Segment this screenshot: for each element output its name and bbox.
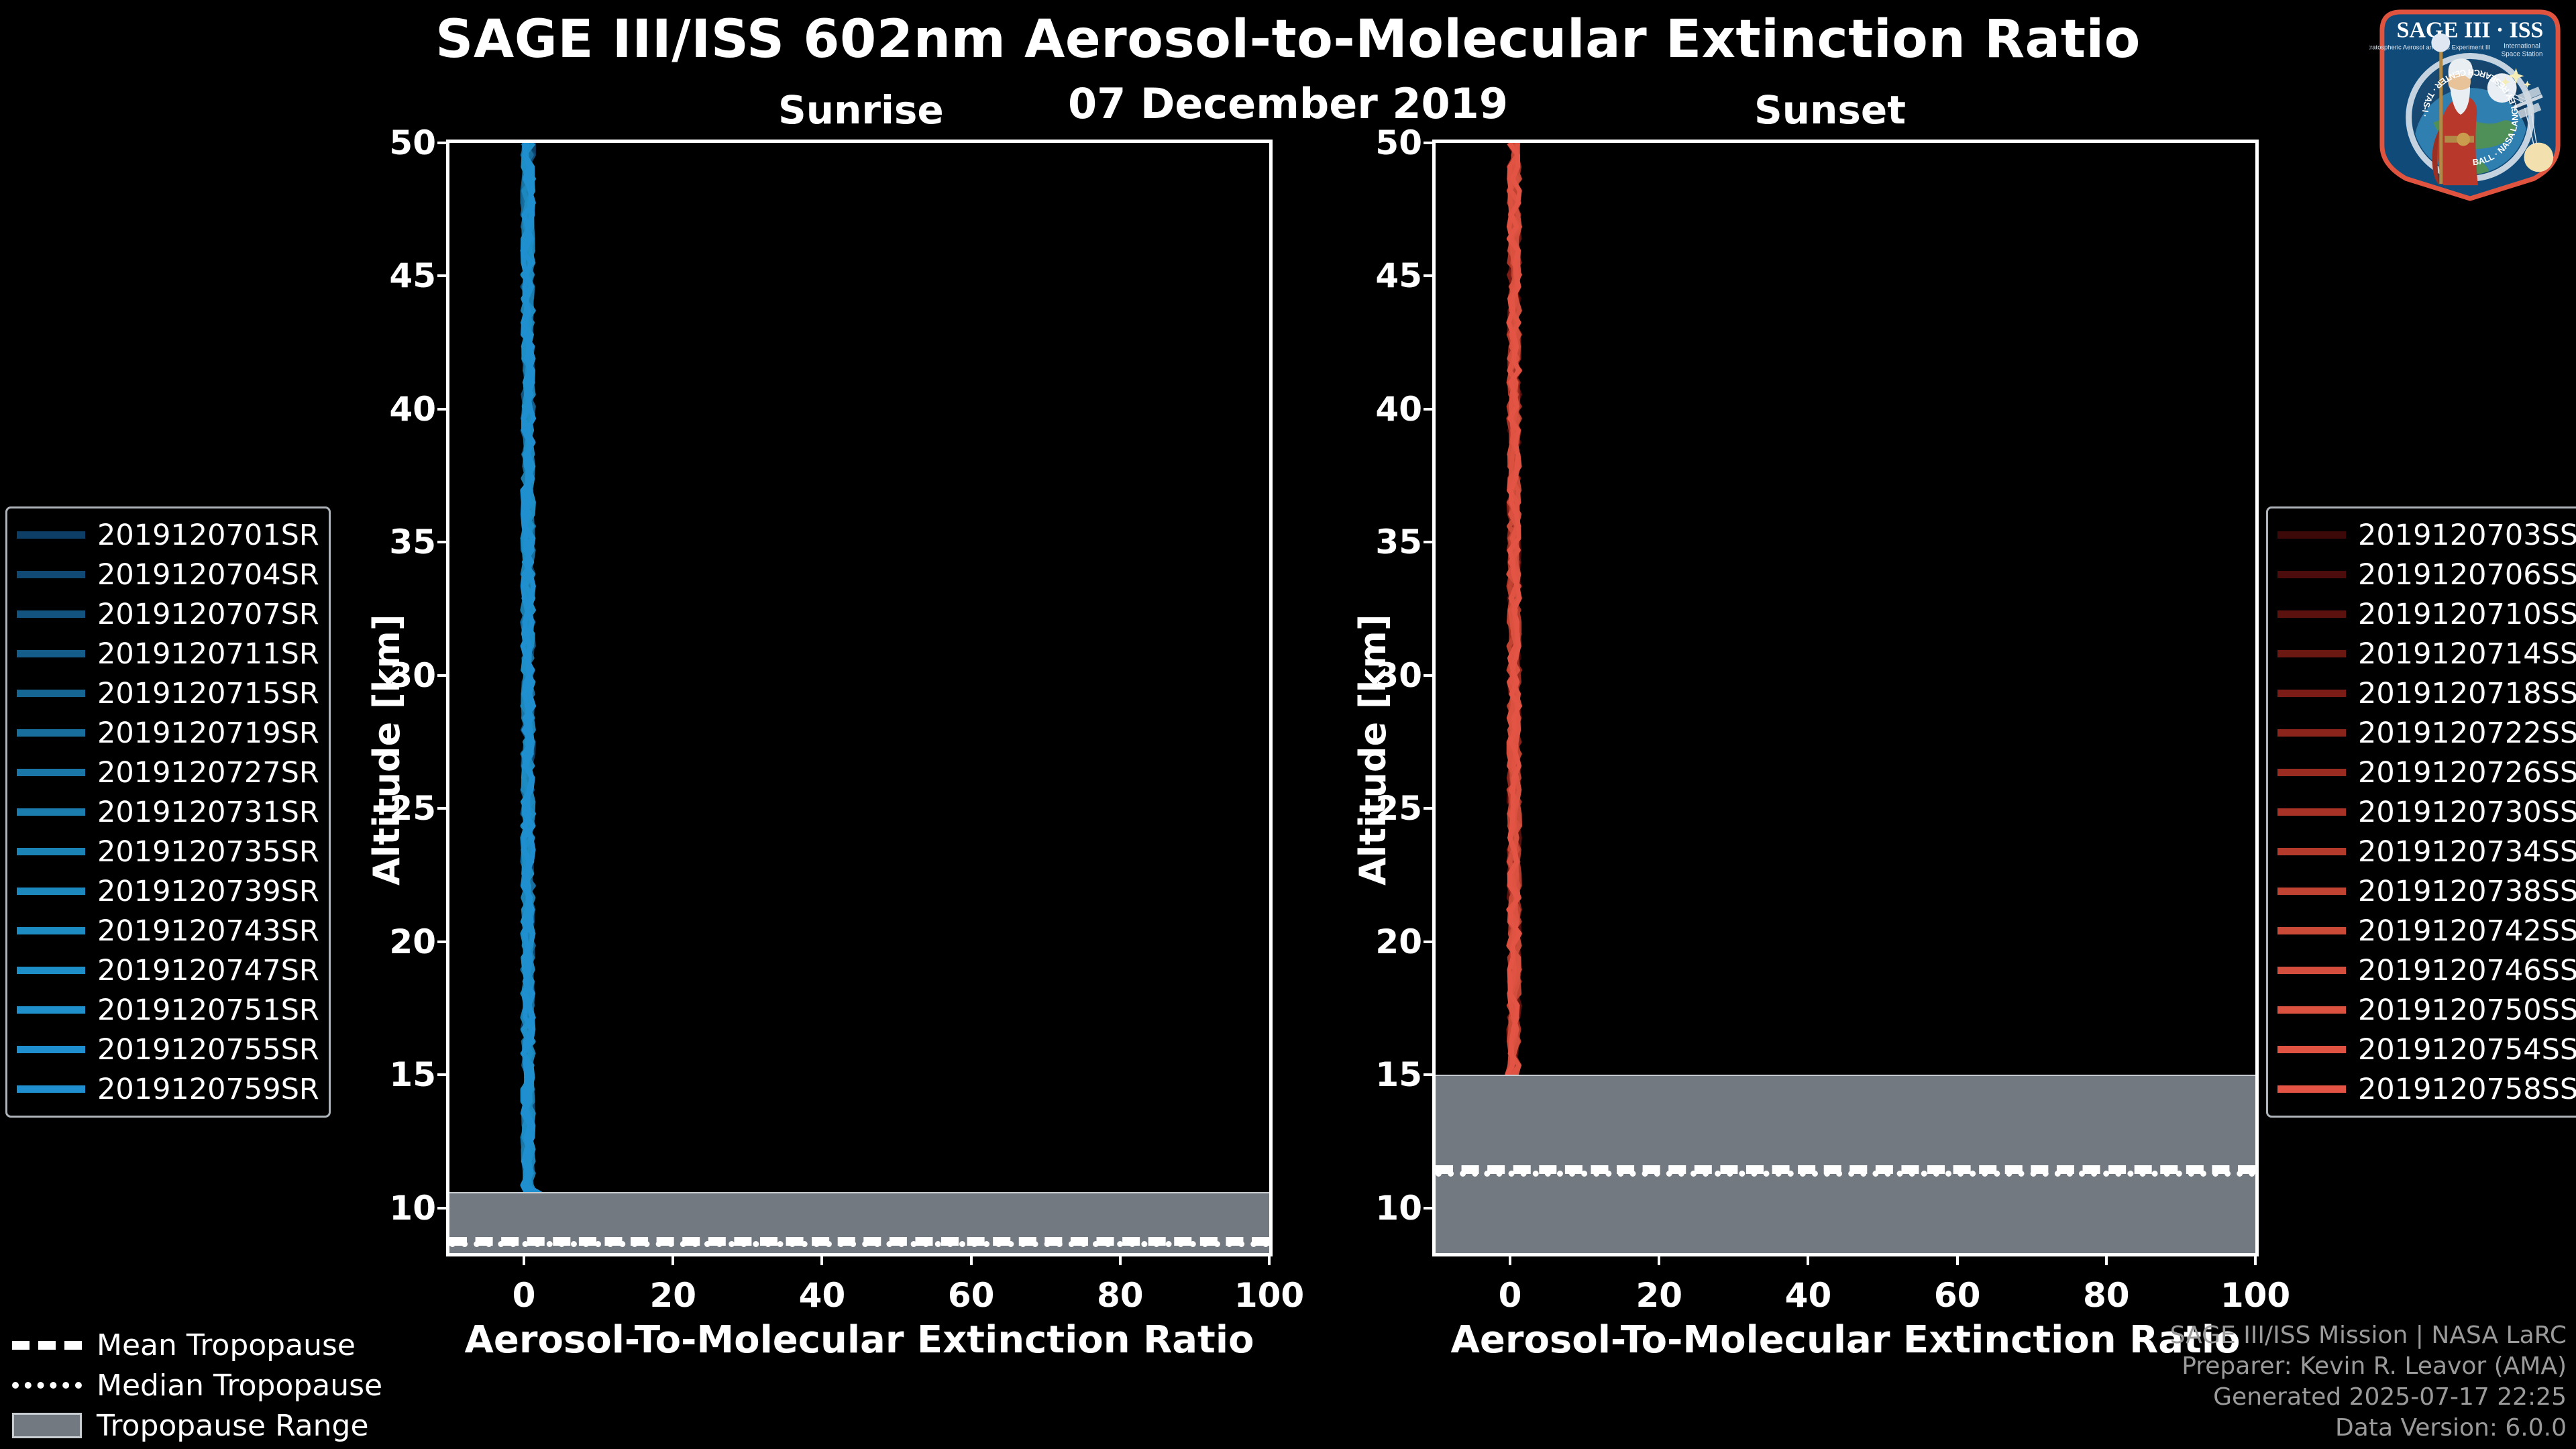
legend-label: 2019120746SS <box>2358 954 2576 987</box>
patch-subtitle-left: Stratospheric Aerosol and Gas Experiment… <box>2369 44 2491 51</box>
legend-color-swatch <box>2277 848 2346 855</box>
y-tick-label: 10 <box>1375 1189 1422 1228</box>
y-tick-label: 35 <box>389 523 436 561</box>
plot-area-sunset <box>1436 143 2255 1253</box>
y-tick-label: 20 <box>389 922 436 961</box>
legend-label: 2019120738SS <box>2358 875 2576 908</box>
legend-color-swatch <box>2277 1085 2346 1093</box>
patch-title-text: SAGE III · ISS <box>2397 18 2544 43</box>
legend-label: 2019120726SS <box>2358 756 2576 790</box>
filled-band-icon <box>12 1413 82 1438</box>
legend-color-swatch <box>2277 769 2346 776</box>
x-tick-label: 60 <box>1934 1276 1981 1315</box>
y-tick-mark <box>437 1207 449 1210</box>
x-tick-label: 40 <box>1785 1276 1832 1315</box>
y-tick-mark <box>437 807 449 810</box>
y-tick-mark <box>437 1073 449 1076</box>
x-tick-mark <box>820 1253 823 1265</box>
x-tick-mark <box>1268 1253 1271 1265</box>
credit-line-version: Data Version: 6.0.0 <box>2170 1413 2567 1444</box>
legend-label: 2019120707SR <box>97 598 319 631</box>
legend-color-swatch <box>17 531 85 539</box>
x-axis-label-sunrise: Aerosol-To-Molecular Extinction Ratio <box>446 1318 1273 1362</box>
y-tick-label: 15 <box>1375 1055 1422 1094</box>
y-tick-mark <box>437 408 449 411</box>
legend-item[interactable]: 2019120703SS <box>2277 515 2576 555</box>
sunset-panel-title: Sunset <box>1754 87 1906 133</box>
legend-color-swatch <box>2277 927 2346 934</box>
legend-item[interactable]: 2019120755SR <box>17 1030 319 1069</box>
legend-color-swatch <box>2277 967 2346 974</box>
x-axis-label-sunset: Aerosol-To-Molecular Extinction Ratio <box>1432 1318 2259 1362</box>
y-tick-mark <box>437 941 449 943</box>
legend-label: 2019120711SR <box>97 637 319 671</box>
y-tick-label: 45 <box>1375 256 1422 295</box>
y-tick-mark <box>1424 142 1436 144</box>
x-tick-mark <box>2105 1253 2108 1265</box>
legend-item-median-tropopause: Median Tropopause <box>12 1365 382 1405</box>
y-tick-label: 45 <box>389 256 436 295</box>
legend-item[interactable]: 2019120746SS <box>2277 951 2576 990</box>
legend-label: 2019120739SR <box>97 875 319 908</box>
page-title: SAGE III/ISS 602nm Aerosol-to-Molecular … <box>0 9 2576 70</box>
dotted-line-icon <box>12 1382 82 1389</box>
patch-subtitle-right-1: International <box>2504 43 2540 50</box>
legend-item[interactable]: 2019120715SR <box>17 674 319 713</box>
legend-label: 2019120710SS <box>2358 598 2576 631</box>
legend-label: 2019120714SS <box>2358 637 2576 671</box>
legend-item[interactable]: 2019120734SS <box>2277 832 2576 871</box>
y-tick-label: 35 <box>1375 523 1422 561</box>
legend-sunrise[interactable]: 2019120701SR2019120704SR2019120707SR2019… <box>5 506 331 1118</box>
legend-color-swatch <box>2277 729 2346 737</box>
y-axis-label-sunrise: Altitude [km] <box>366 614 408 886</box>
legend-label: 2019120734SS <box>2358 835 2576 869</box>
legend-item[interactable]: 2019120742SS <box>2277 911 2576 951</box>
x-tick-label: 60 <box>948 1276 995 1315</box>
legend-item[interactable]: 2019120750SS <box>2277 990 2576 1030</box>
legend-color-swatch <box>17 1085 85 1093</box>
sage-iii-iss-mission-patch-logo: SAGE III · ISS Stratospheric Aerosol and… <box>2369 3 2571 203</box>
legend-item[interactable]: 2019120739SR <box>17 871 319 911</box>
legend-item[interactable]: 2019120719SR <box>17 713 319 753</box>
x-tick-mark <box>1658 1253 1660 1265</box>
y-tick-mark <box>437 674 449 677</box>
plot-panel-sunrise: 101520253035404550 020406080100 <box>446 140 1273 1256</box>
profile-traces-sunrise <box>449 143 1269 1253</box>
credits-block: SAGE III/ISS Mission | NASA LaRC Prepare… <box>2170 1320 2567 1444</box>
legend-item[interactable]: 2019120727SR <box>17 753 319 792</box>
legend-color-swatch <box>2277 690 2346 697</box>
y-tick-label: 50 <box>389 123 436 162</box>
y-tick-mark <box>1424 408 1436 411</box>
plot-area-sunrise <box>449 143 1269 1253</box>
y-tick-label: 40 <box>1375 390 1422 429</box>
y-axis-label-sunset: Altitude [km] <box>1352 614 1394 886</box>
legend-color-swatch <box>17 571 85 578</box>
patch-staff <box>2439 46 2443 184</box>
legend-label: 2019120747SR <box>97 954 319 987</box>
y-tick-label: 50 <box>1375 123 1422 162</box>
legend-label-tropopause-range: Tropopause Range <box>97 1409 369 1443</box>
x-tick-mark <box>1807 1253 1809 1265</box>
legend-label: 2019120719SR <box>97 716 319 750</box>
credit-line-mission: SAGE III/ISS Mission | NASA LaRC <box>2170 1320 2567 1351</box>
credit-line-preparer: Preparer: Kevin R. Leavor (AMA) <box>2170 1351 2567 1382</box>
x-tick-mark <box>1509 1253 1511 1265</box>
y-tick-mark <box>1424 807 1436 810</box>
y-tick-label: 10 <box>389 1189 436 1228</box>
x-tick-label: 20 <box>1635 1276 1682 1315</box>
legend-color-swatch <box>17 927 85 934</box>
legend-label: 2019120703SS <box>2358 519 2576 552</box>
x-tick-label: 0 <box>513 1276 536 1315</box>
median-tropopause-line-sunset <box>1436 1171 2255 1177</box>
legend-label: 2019120715SR <box>97 677 319 710</box>
legend-color-swatch <box>17 650 85 657</box>
legend-item[interactable]: 2019120718SS <box>2277 674 2576 713</box>
legend-label: 2019120718SS <box>2358 677 2576 710</box>
y-tick-mark <box>1424 1207 1436 1210</box>
legend-color-swatch <box>2277 571 2346 578</box>
y-tick-mark <box>1424 541 1436 543</box>
legend-label: 2019120742SS <box>2358 914 2576 948</box>
patch-belt-buckle <box>2457 133 2470 146</box>
y-tick-mark <box>1424 274 1436 277</box>
date-subtitle: 07 December 2019 <box>0 79 2576 128</box>
x-tick-mark <box>2254 1253 2257 1265</box>
patch-subtitle-right-2: Space Station <box>2502 50 2543 58</box>
legend-color-swatch <box>17 848 85 855</box>
y-tick-mark <box>1424 1073 1436 1076</box>
legend-label: 2019120759SR <box>97 1073 319 1106</box>
median-tropopause-line-sunrise <box>449 1241 1269 1247</box>
legend-item[interactable]: 2019120722SS <box>2277 713 2576 753</box>
x-tick-mark <box>970 1253 973 1265</box>
legend-item[interactable]: 2019120735SR <box>17 832 319 871</box>
legend-label: 2019120722SS <box>2358 716 2576 750</box>
credit-line-generated: Generated 2025-07-17 22:25 <box>2170 1382 2567 1413</box>
legend-sunset[interactable]: 2019120703SS2019120706SS2019120710SS2019… <box>2266 506 2576 1118</box>
legend-item-mean-tropopause: Mean Tropopause <box>12 1325 382 1365</box>
legend-label: 2019120727SR <box>97 756 319 790</box>
plot-panel-sunset: 101520253035404550 020406080100 <box>1432 140 2259 1256</box>
legend-item[interactable]: 2019120711SR <box>17 634 319 674</box>
legend-color-swatch <box>17 610 85 618</box>
legend-color-swatch <box>17 967 85 974</box>
legend-color-swatch <box>2277 888 2346 895</box>
legend-label: 2019120704SR <box>97 558 319 592</box>
legend-color-swatch <box>2277 1006 2346 1014</box>
x-tick-mark <box>672 1253 674 1265</box>
x-tick-mark <box>523 1253 525 1265</box>
sunrise-panel-title: Sunrise <box>778 87 944 133</box>
legend-color-swatch <box>2277 531 2346 539</box>
legend-color-swatch <box>17 729 85 737</box>
patch-sun <box>2524 143 2553 172</box>
legend-label: 2019120751SR <box>97 994 319 1027</box>
legend-color-swatch <box>17 888 85 895</box>
legend-label: 2019120755SR <box>97 1033 319 1067</box>
y-tick-mark <box>1424 674 1436 677</box>
x-tick-label: 80 <box>2083 1276 2130 1315</box>
legend-color-swatch <box>2277 610 2346 618</box>
legend-item[interactable]: 2019120714SS <box>2277 634 2576 674</box>
legend-label: 2019120731SR <box>97 796 319 829</box>
legend-color-swatch <box>2277 650 2346 657</box>
y-tick-label: 15 <box>389 1055 436 1094</box>
x-tick-label: 100 <box>1234 1276 1304 1315</box>
legend-item[interactable]: 2019120706SS <box>2277 555 2576 594</box>
y-tick-mark <box>437 142 449 144</box>
x-tick-label: 100 <box>2220 1276 2290 1315</box>
figure-root: SAGE III/ISS 602nm Aerosol-to-Molecular … <box>0 0 2576 1449</box>
legend-label: 2019120735SR <box>97 835 319 869</box>
x-tick-mark <box>1956 1253 1959 1265</box>
x-tick-label: 80 <box>1097 1276 1144 1315</box>
legend-label: 2019120743SR <box>97 914 319 948</box>
y-tick-label: 20 <box>1375 922 1422 961</box>
y-tick-label: 40 <box>389 390 436 429</box>
legend-color-swatch <box>2277 1046 2346 1053</box>
legend-item[interactable]: 2019120747SR <box>17 951 319 990</box>
legend-label: 2019120730SS <box>2358 796 2576 829</box>
legend-label: 2019120701SR <box>97 519 319 552</box>
legend-item[interactable]: 2019120738SS <box>2277 871 2576 911</box>
legend-color-swatch <box>17 769 85 776</box>
legend-item[interactable]: 2019120730SS <box>2277 792 2576 832</box>
legend-color-swatch <box>17 1006 85 1014</box>
legend-item[interactable]: 2019120701SR <box>17 515 319 555</box>
legend-label: 2019120706SS <box>2358 558 2576 592</box>
tropopause-range-band-sunset <box>1436 1075 2255 1253</box>
legend-item-tropopause-range: Tropopause Range <box>12 1405 382 1446</box>
legend-item[interactable]: 2019120751SR <box>17 990 319 1030</box>
x-tick-label: 20 <box>649 1276 696 1315</box>
legend-item[interactable]: 2019120743SR <box>17 911 319 951</box>
legend-color-swatch <box>2277 808 2346 816</box>
x-tick-mark <box>1119 1253 1122 1265</box>
x-tick-label: 0 <box>1499 1276 1522 1315</box>
legend-label-mean-tropopause: Mean Tropopause <box>97 1328 356 1362</box>
legend-label: 2019120750SS <box>2358 994 2576 1027</box>
y-tick-mark <box>437 274 449 277</box>
legend-label-median-tropopause: Median Tropopause <box>97 1368 382 1403</box>
legend-item[interactable]: 2019120759SR <box>17 1069 319 1109</box>
x-tick-label: 40 <box>799 1276 846 1315</box>
patch-staff-orb <box>2431 34 2450 52</box>
y-tick-mark <box>1424 941 1436 943</box>
legend-tropopause: Mean Tropopause Median Tropopause Tropop… <box>12 1325 382 1446</box>
legend-item[interactable]: 2019120754SS <box>2277 1030 2576 1069</box>
legend-label: 2019120758SS <box>2358 1073 2576 1106</box>
legend-color-swatch <box>17 808 85 816</box>
y-tick-mark <box>437 541 449 543</box>
legend-color-swatch <box>17 1046 85 1053</box>
legend-label: 2019120754SS <box>2358 1033 2576 1067</box>
legend-item[interactable]: 2019120726SS <box>2277 753 2576 792</box>
legend-item[interactable]: 2019120704SR <box>17 555 319 594</box>
legend-item[interactable]: 2019120710SS <box>2277 594 2576 634</box>
dashed-line-icon <box>12 1341 82 1350</box>
legend-item[interactable]: 2019120758SS <box>2277 1069 2576 1109</box>
legend-item[interactable]: 2019120707SR <box>17 594 319 634</box>
legend-color-swatch <box>17 690 85 697</box>
legend-item[interactable]: 2019120731SR <box>17 792 319 832</box>
